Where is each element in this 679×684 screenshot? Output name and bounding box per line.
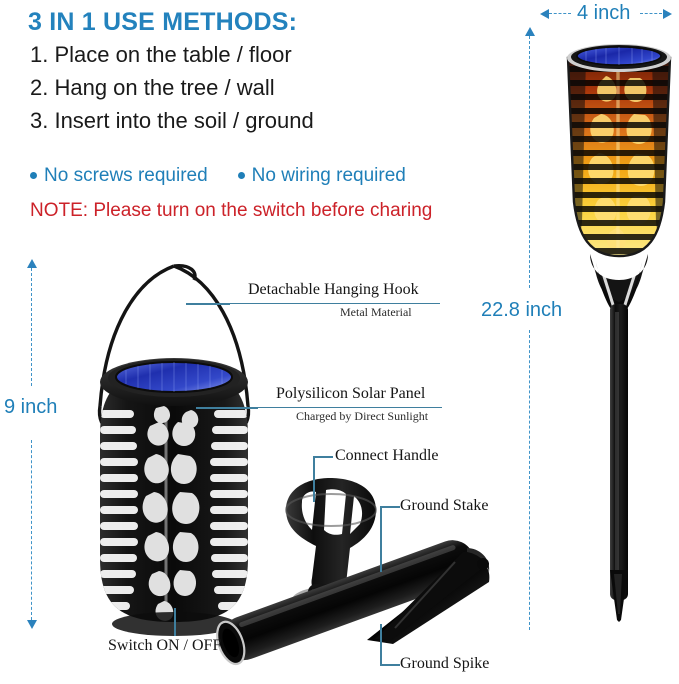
leader-connect-handle-v bbox=[313, 456, 315, 502]
dim-torch-height-line-bottom bbox=[529, 330, 530, 630]
dim-lantern-height-line-bottom bbox=[31, 440, 32, 620]
callout-ground-stake: Ground Stake bbox=[400, 497, 488, 515]
leader-ground-spike-v bbox=[380, 624, 382, 664]
bullet-dot-icon bbox=[238, 172, 245, 179]
dim-lantern-height-label: 9 inch bbox=[4, 396, 57, 419]
callout-hanging-hook-title: Detachable Hanging Hook bbox=[248, 281, 419, 299]
use-method-3: 3. Insert into the soil / ground bbox=[30, 108, 314, 134]
dim-lantern-height-line-top bbox=[31, 268, 32, 386]
bullet-dot-icon bbox=[30, 172, 37, 179]
callout-hanging-hook-sub: Metal Material bbox=[340, 305, 412, 320]
leader-switch bbox=[174, 608, 176, 636]
dim-torch-width-label: 4 inch bbox=[577, 2, 630, 25]
solar-torch-illustration bbox=[556, 22, 679, 622]
dim-torch-width-line-right bbox=[640, 13, 662, 14]
dim-arrow-up-icon-left bbox=[27, 259, 37, 268]
charging-note: NOTE: Please turn on the switch before c… bbox=[30, 200, 432, 222]
feature-no-wiring: No wiring required bbox=[252, 165, 406, 186]
ground-spike-illustration bbox=[355, 540, 505, 658]
callout-panel-underline bbox=[256, 407, 442, 408]
leader-connect-handle-h bbox=[313, 456, 333, 458]
leader-hook bbox=[186, 303, 230, 305]
callout-switch: Switch ON / OFF bbox=[108, 637, 221, 655]
callout-hook-underline bbox=[228, 303, 440, 304]
feature-bullets: No screws requiredNo wiring required bbox=[30, 165, 406, 187]
callout-connect-handle: Connect Handle bbox=[335, 447, 439, 465]
callout-ground-spike: Ground Spike bbox=[400, 655, 489, 673]
use-method-2: 2. Hang on the tree / wall bbox=[30, 75, 275, 101]
page-title: 3 IN 1 USE METHODS: bbox=[28, 8, 297, 37]
dim-arrow-up-icon bbox=[525, 27, 535, 36]
leader-ground-stake-v bbox=[380, 506, 382, 572]
product-infographic: 3 IN 1 USE METHODS: 1. Place on the tabl… bbox=[0, 0, 679, 684]
dim-torch-width-line-left bbox=[549, 13, 571, 14]
feature-no-screws: No screws required bbox=[44, 165, 208, 186]
dim-torch-height-label: 22.8 inch bbox=[481, 299, 562, 322]
dim-arrow-down-icon-left bbox=[27, 620, 37, 629]
dim-torch-height-line-top bbox=[529, 36, 530, 288]
dim-arrow-left-icon bbox=[540, 9, 549, 19]
use-method-1: 1. Place on the table / floor bbox=[30, 42, 292, 68]
dim-arrow-right-icon bbox=[663, 9, 672, 19]
leader-panel bbox=[196, 407, 258, 409]
leader-ground-spike-h bbox=[380, 664, 400, 666]
leader-ground-stake-h bbox=[380, 506, 400, 508]
callout-solar-panel-title: Polysilicon Solar Panel bbox=[276, 385, 425, 403]
callout-solar-panel-sub: Charged by Direct Sunlight bbox=[296, 409, 428, 424]
